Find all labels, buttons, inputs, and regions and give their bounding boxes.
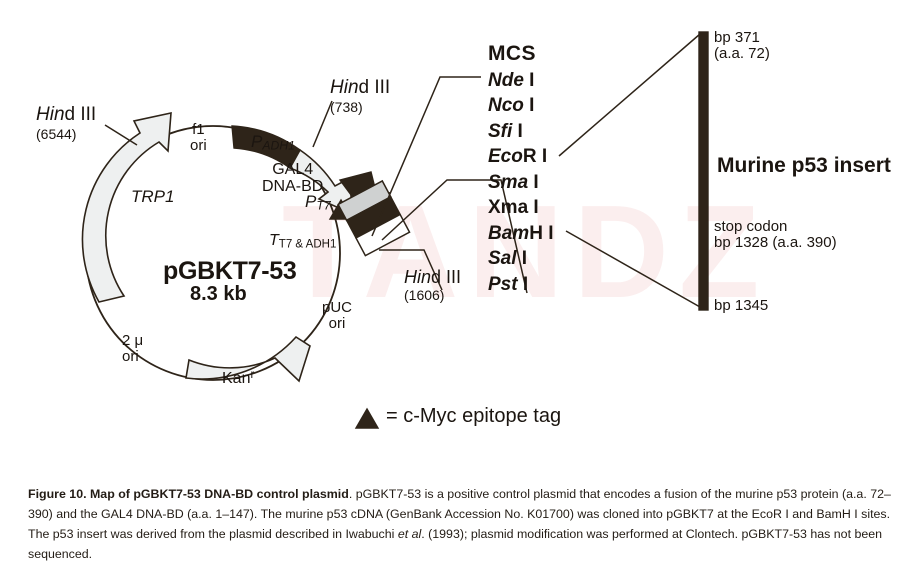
mcs-item-sma1: Sma I xyxy=(488,172,553,194)
legend-triangle-icon xyxy=(356,409,378,428)
mcs-enzyme-roman: I xyxy=(528,172,539,193)
mcs-enzyme-italic: Sma xyxy=(488,172,528,193)
mcs-enzyme-italic: Sfi xyxy=(488,121,512,142)
plasmid-size-label: 8.3 kb xyxy=(190,284,247,306)
feature-label-p-adh1: PADH1 xyxy=(251,133,295,153)
mcs-enzyme-italic: Pst xyxy=(488,274,518,295)
mcs-list-title: MCS xyxy=(488,42,553,66)
site-name-roman: d III xyxy=(65,104,97,125)
leader-hind6544 xyxy=(105,125,137,145)
mcs-enzyme-roman: I xyxy=(524,95,535,116)
feature-label-gal4-dna-bd: GAL4 DNA-BD xyxy=(262,161,323,196)
leader-bamhi-to-insert xyxy=(566,231,700,307)
murine-p53-insert-bar xyxy=(699,32,708,310)
two-mu-line1: 2 μ xyxy=(122,332,143,349)
mcs-enzyme-italic: Eco xyxy=(488,146,523,167)
mcs-enzyme-italic: Nco xyxy=(488,95,524,116)
stop-codon-line1: stop codon xyxy=(714,218,787,235)
gal4-line1: GAL4 xyxy=(272,161,313,178)
mcs-item-xma1: Xma I xyxy=(488,197,553,219)
mcs-enzyme-italic: Sal xyxy=(488,248,517,269)
caption-title: Map of pGBKT7-53 DNA-BD control plasmid xyxy=(90,487,349,501)
feature-label-kanr: Kanr xyxy=(222,369,254,387)
site-position: (738) xyxy=(330,100,390,115)
insert-top-coordinate-label: bp 371 (a.a. 72) xyxy=(714,30,770,62)
stop-codon-line2: bp 1328 (a.a. 390) xyxy=(714,234,837,251)
mcs-item-nco1: Nco I xyxy=(488,95,553,117)
plasmid-figure: TANDZ .st{fill:none;stroke:#2e2419;strok… xyxy=(0,0,921,572)
insert-bottom-coordinate-label: bp 1345 xyxy=(714,298,768,314)
site-label-hind3-6544: Hind III (6544) xyxy=(36,105,96,142)
plasmid-name-label: pGBKT7-53 xyxy=(163,258,296,285)
site-label-hind3-738: Hind III (738) xyxy=(330,78,390,115)
mcs-enzyme-roman: I xyxy=(517,248,528,269)
mcs-item-sfi1: Sfi I xyxy=(488,121,553,143)
two-mu-line2: ori xyxy=(122,348,139,365)
puc-ori-line1: pUC xyxy=(322,299,352,316)
feature-label-puc-ori: pUC ori xyxy=(322,300,352,332)
site-name-italic: Hin xyxy=(330,77,359,98)
mcs-enzyme-italic: Nde xyxy=(488,70,524,91)
site-name-italic: Hin xyxy=(404,267,431,287)
feature-label-p-t7: PT7 xyxy=(305,193,331,213)
leader-ecori-to-insert xyxy=(559,34,700,156)
mcs-enzyme-roman: I xyxy=(518,274,529,295)
terminator-subscript: T7 & ADH1 xyxy=(279,239,337,251)
feature-label-terminator: TT7 & ADH1 xyxy=(269,232,336,251)
p-t7-subscript: T7 xyxy=(316,199,330,213)
mcs-item-sal1: Sal I xyxy=(488,248,553,270)
p-adh1-subscript: ADH1 xyxy=(262,139,295,153)
site-name-roman: d III xyxy=(359,77,391,98)
site-name-roman: d III xyxy=(431,267,461,287)
site-label-hind3-1606: Hind III (1606) xyxy=(404,268,461,304)
mcs-item-bamh1: BamH I xyxy=(488,223,553,245)
kanr-superscript: r xyxy=(250,369,254,381)
mcs-enzyme-roman: Xma I xyxy=(488,197,539,218)
legend-text: = c-Myc epitope tag xyxy=(386,406,561,428)
mcs-enzyme-roman: I xyxy=(524,70,535,91)
feature-label-f1-ori: f1 ori xyxy=(190,122,207,154)
mcs-enzyme-italic: Bam xyxy=(488,223,529,244)
bp371-line1: bp 371 xyxy=(714,29,760,46)
puc-ori-line2: ori xyxy=(329,315,346,332)
mcs-enzyme-roman: H I xyxy=(529,223,553,244)
mcs-enzyme-roman: R I xyxy=(523,146,547,167)
site-name-italic: Hin xyxy=(36,104,65,125)
f1-ori-line2: ori xyxy=(190,137,207,154)
feature-label-2mu-ori: 2 μ ori xyxy=(122,333,143,365)
mcs-enzyme-roman: I xyxy=(512,121,523,142)
caption-figure-label: Figure 10. xyxy=(28,487,87,501)
insert-stop-codon-label: stop codon bp 1328 (a.a. 390) xyxy=(714,219,837,251)
p-adh1-base: P xyxy=(251,132,262,151)
caption-italic-1: et al xyxy=(398,527,421,541)
mcs-item-nde1: Nde I xyxy=(488,70,553,92)
feature-label-trp1: TRP1 xyxy=(131,188,174,206)
f1-ori-line1: f1 xyxy=(192,121,205,138)
site-position: (6544) xyxy=(36,127,96,142)
p-t7-base: P xyxy=(305,192,316,211)
site-position: (1606) xyxy=(404,288,461,303)
mcs-item-pst1: Pst I xyxy=(488,274,553,296)
kanr-base: Kan xyxy=(222,370,250,387)
figure-caption: Figure 10. Map of pGBKT7-53 DNA-BD contr… xyxy=(28,484,900,564)
mcs-item-ecor1: EcoR I xyxy=(488,146,553,168)
bp371-line2: (a.a. 72) xyxy=(714,45,770,62)
mcs-site-list: MCS Nde I Nco I Sfi I EcoR I Sma I Xma I… xyxy=(488,42,553,296)
terminator-base: T xyxy=(269,232,279,249)
insert-title-label: Murine p53 insert xyxy=(717,155,891,178)
